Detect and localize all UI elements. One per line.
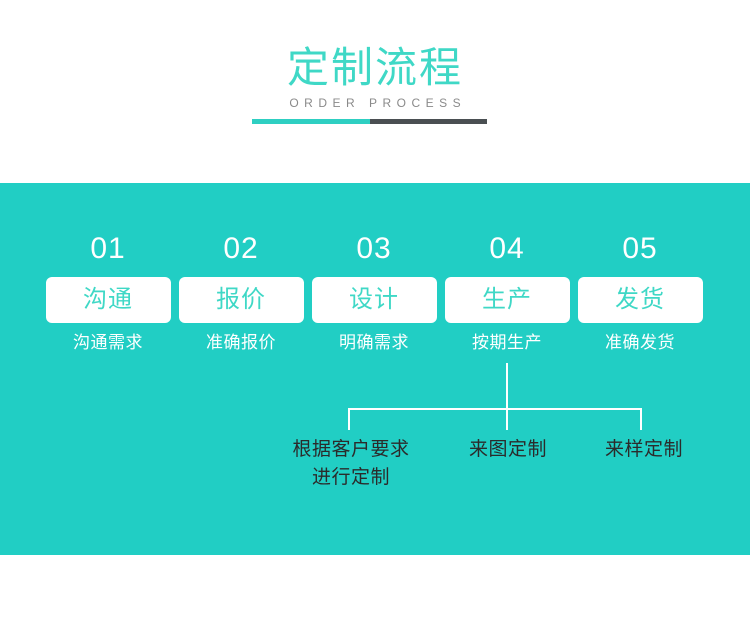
page-subtitle: ORDER PROCESS [0, 95, 750, 111]
custom-option: 来样定制 [534, 436, 750, 464]
step-card[interactable]: 设计 [312, 277, 437, 323]
step-card-label: 设计 [349, 287, 399, 313]
header-rule-accent [252, 119, 370, 124]
header-rule-dark [370, 119, 487, 124]
custom-option-line1: 来样定制 [534, 436, 750, 464]
step-card-label: 生产 [482, 287, 532, 313]
step-card[interactable]: 报价 [179, 277, 304, 323]
step-card[interactable]: 生产 [445, 277, 570, 323]
process-step-list: 01 沟通 沟通需求 02 报价 准确报价 03 设计 明确需求 [0, 183, 750, 555]
process-step: 05 发货 准确发货 [560, 231, 720, 354]
process-band: 01 沟通 沟通需求 02 报价 准确报价 03 设计 明确需求 [0, 183, 750, 555]
custom-option-line2: 进行定制 [241, 464, 461, 492]
step-card-label: 沟通 [83, 287, 133, 313]
page-title: 定制流程 [0, 42, 750, 94]
step-card[interactable]: 发货 [578, 277, 703, 323]
header: 定制流程 ORDER PROCESS [0, 0, 750, 183]
order-process-banner: 定制流程 ORDER PROCESS 01 沟通 沟通需求 02 报价 准确报价 [0, 0, 750, 632]
step-card[interactable]: 沟通 [46, 277, 171, 323]
step-card-label: 发货 [615, 287, 665, 313]
step-card-label: 报价 [216, 287, 266, 313]
step-description: 准确发货 [560, 332, 720, 354]
step-number: 05 [560, 231, 720, 267]
